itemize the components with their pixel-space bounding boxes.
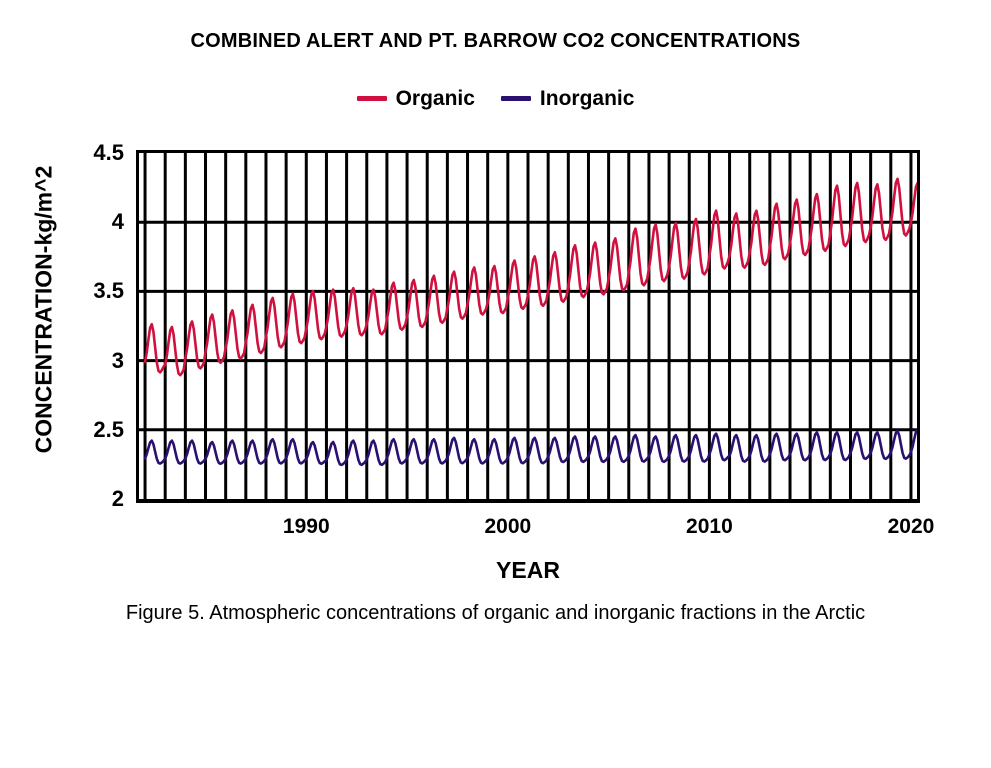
legend-label-organic: Organic [396, 88, 475, 109]
legend-swatch-inorganic [501, 96, 531, 101]
figure-caption: Figure 5. Atmospheric concentrations of … [0, 602, 991, 625]
chart-series-lines [139, 153, 917, 499]
chart-title: COMBINED ALERT AND PT. BARROW CO2 CONCEN… [0, 30, 991, 53]
series-line-inorganic [145, 430, 917, 465]
x-axis-title: YEAR [0, 557, 991, 584]
x-tick-label: 1990 [256, 516, 356, 537]
x-tick-label: 2010 [659, 516, 759, 537]
y-tick-label: 2.5 [64, 419, 124, 441]
chart-legend: Organic Inorganic [0, 88, 991, 109]
legend-entry-inorganic: Inorganic [501, 88, 635, 109]
legend-label-inorganic: Inorganic [540, 88, 635, 109]
figure-container: COMBINED ALERT AND PT. BARROW CO2 CONCEN… [0, 0, 991, 768]
y-tick-label: 3.5 [64, 280, 124, 302]
y-tick-label: 2 [64, 488, 124, 510]
y-tick-label: 3 [64, 350, 124, 372]
plot-inner [139, 153, 917, 499]
series-line-organic [145, 179, 917, 375]
legend-swatch-organic [357, 96, 387, 101]
y-tick-label: 4 [64, 211, 124, 233]
plot-area [136, 150, 920, 503]
x-tick-label: 2000 [458, 516, 558, 537]
x-tick-label: 2020 [861, 516, 961, 537]
y-tick-label: 4.5 [64, 142, 124, 164]
y-axis-title: CONCENTRATION-kg/m^2 [31, 100, 58, 520]
legend-entry-organic: Organic [357, 88, 475, 109]
